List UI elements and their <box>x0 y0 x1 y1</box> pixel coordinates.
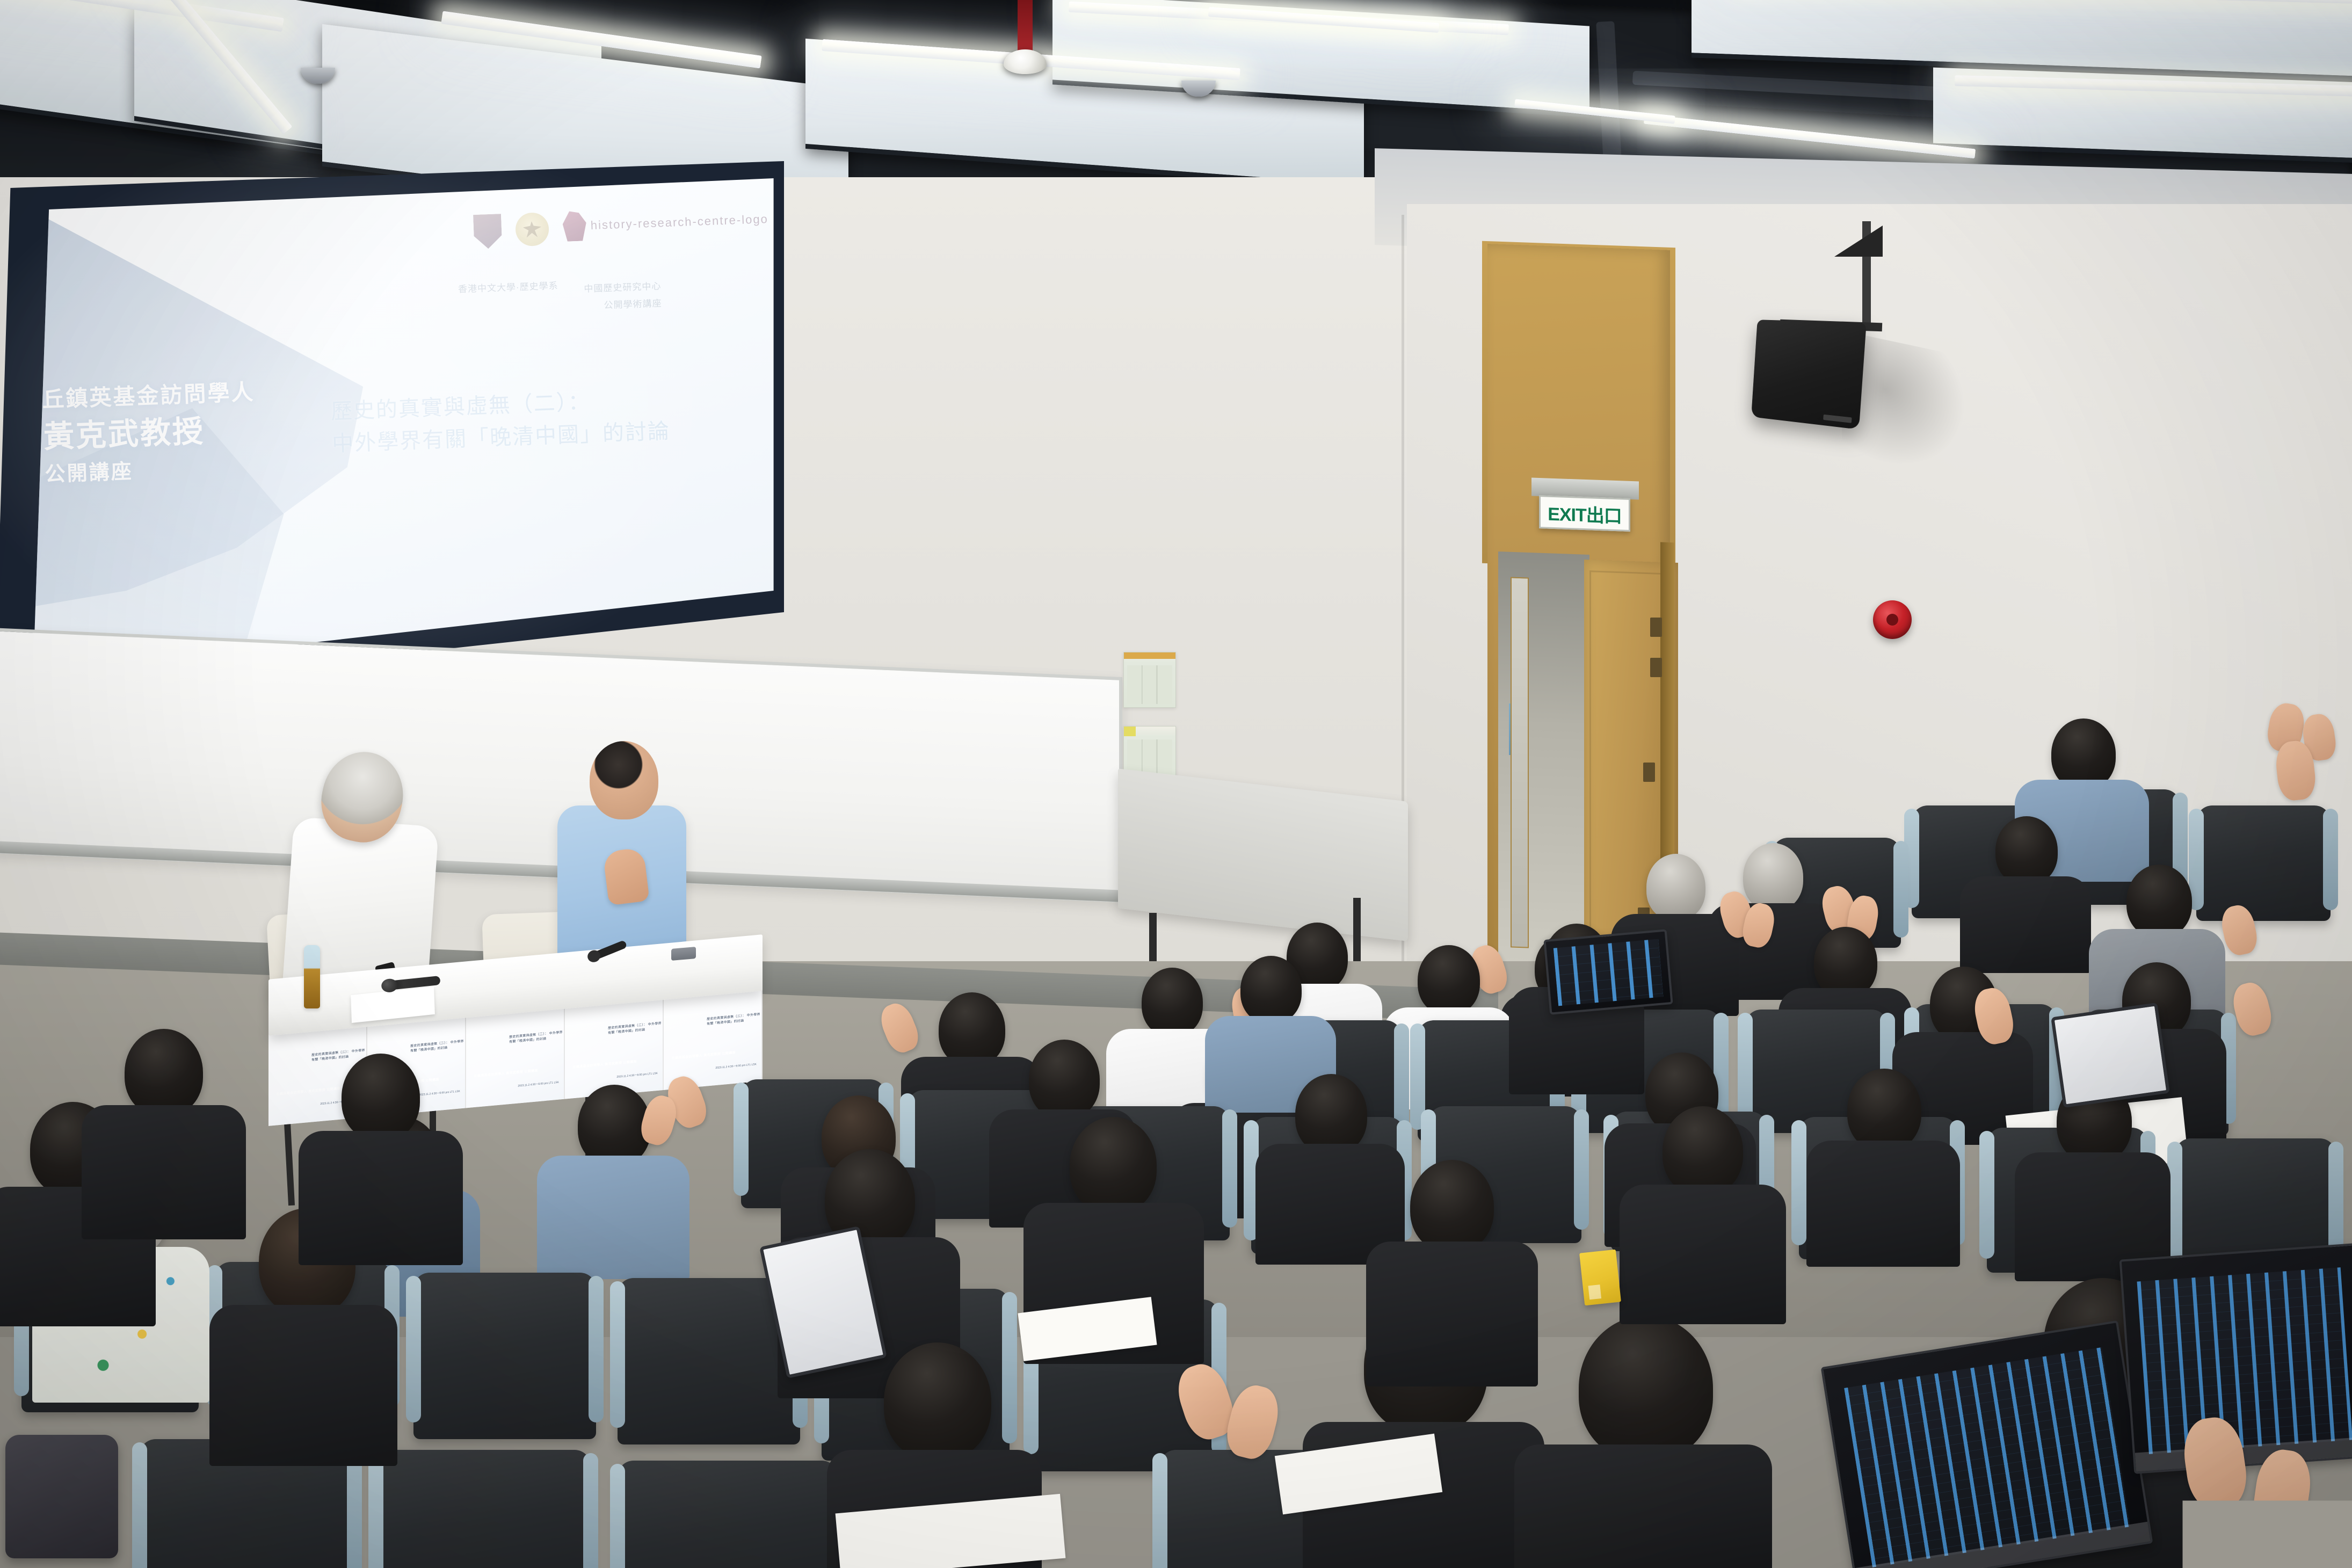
mini-poster-date: 2023.11.2 4:30－6:00 pm LT1 LSK <box>715 1063 757 1070</box>
mini-poster-title: 歷史的真實與虛無（二）： 中外學界有關「晚清中國」的討論 <box>509 1030 564 1045</box>
safety-instruction-notice-top <box>1123 652 1176 708</box>
audience-head <box>1240 956 1302 1023</box>
audience-head <box>1070 1117 1157 1214</box>
laptop-desktop-screen <box>1554 939 1663 1006</box>
laptop-device[interactable] <box>1821 1320 2153 1568</box>
lecture-seat[interactable] <box>2196 805 2331 921</box>
audience-head <box>1847 1069 1921 1151</box>
door-hinge <box>1650 618 1662 637</box>
audience-torso <box>299 1131 463 1265</box>
juice-carton <box>1579 1250 1621 1306</box>
audience-torso <box>209 1305 397 1466</box>
fire-alarm-bell-icon <box>1873 600 1912 639</box>
mini-poster-date: 2023.11.2 4:30－6:00 pm LT1 LSK <box>419 1090 460 1097</box>
audience-head <box>884 1342 991 1461</box>
audience-head <box>1410 1160 1494 1252</box>
exit-sign: EXIT出口 <box>1539 495 1630 532</box>
audience-head <box>342 1054 420 1141</box>
smartphone[interactable] <box>671 947 696 961</box>
lecture-hall-photo: history-research-centre-logo 香港中文大學·歷史學系… <box>0 0 2352 1568</box>
exit-sign-label: EXIT出口 <box>1548 499 1622 528</box>
red-pendant-light <box>1018 0 1033 54</box>
audience-head <box>1295 1074 1367 1155</box>
audience-head <box>1029 1040 1100 1119</box>
laptop-device[interactable] <box>1543 929 1673 1015</box>
lecture-seat[interactable] <box>376 1450 591 1568</box>
slide-logo-row: history-research-centre-logo <box>473 204 769 249</box>
door-hinge <box>1650 658 1662 677</box>
audience-torso <box>1620 1185 1786 1324</box>
audience-head <box>939 992 1005 1066</box>
faculty-circular-emblem-icon <box>515 212 549 246</box>
mini-poster-title: 歷史的真實與虛無（二）： 中外學界有關「晚清中國」的討論 <box>608 1021 663 1036</box>
slide-logo-caption-right: 中國歷史研究中心 公開學術講座 <box>584 278 662 315</box>
backpack <box>5 1435 118 1558</box>
audience-torso <box>82 1105 246 1239</box>
audience-head <box>2051 718 2116 789</box>
history-research-centre-logo: history-research-centre-logo <box>562 204 769 242</box>
centre-mark-icon <box>562 210 587 242</box>
water-bottle <box>304 945 320 1008</box>
door-vision-panel <box>1511 577 1529 948</box>
slide-lecture-title: 歷史的真實與虛無（二）： 中外學界有關「晚清中國」的討論 <box>330 383 671 460</box>
mini-poster-title: 歷史的真實與虛無（二）： 中外學界有關「晚清中國」的討論 <box>707 1012 761 1027</box>
audience-head <box>1646 854 1705 920</box>
ceiling-loudspeaker <box>1751 320 1867 430</box>
host-speaker-head <box>590 741 658 819</box>
slide-speaker-name: 黃克武教授 <box>43 409 257 458</box>
audience-head <box>1663 1106 1743 1195</box>
audience-torso <box>1514 1444 1772 1568</box>
laptop-desktop-screen <box>2137 1267 2352 1454</box>
slide-speaker-block: 丘鎮英基金訪問學人 黃克武教授 公開講座 <box>41 378 258 489</box>
audience-head <box>2126 865 2192 938</box>
mini-poster-title: 歷史的真實與虛無（二）： 中外學界有關「晚清中國」的討論 <box>410 1040 465 1054</box>
mini-poster-date: 2023.11.2 4:30－6:00 pm LT1 LSK <box>616 1071 658 1079</box>
door-hinge <box>1643 763 1655 782</box>
university-shield-crest-icon <box>473 214 502 249</box>
audience-head <box>1743 843 1803 911</box>
audience-torso <box>1366 1242 1538 1386</box>
centre-logo-text: history-research-centre-logo <box>590 212 768 233</box>
mini-poster-date: 2023.11.2 4:30－6:00 pm LT1 LSK <box>518 1080 559 1088</box>
tablet-device[interactable] <box>2051 1003 2170 1108</box>
audience-head <box>1814 927 1877 998</box>
slide-logo-caption-left: 香港中文大學·歷史學系 <box>458 278 558 299</box>
slide-logo-caption-right-line2: 公開學術講座 <box>584 295 662 316</box>
audience-head <box>578 1085 651 1166</box>
slide-logo-caption-right-line1: 中國歷史研究中心 <box>584 278 662 298</box>
audience-torso <box>1806 1141 1960 1267</box>
audience-head <box>1418 945 1480 1015</box>
audience-head <box>1142 968 1203 1036</box>
lecture-seat[interactable] <box>618 1461 838 1568</box>
audience-head <box>125 1029 203 1116</box>
lecture-seat[interactable] <box>413 1273 596 1439</box>
audience-torso <box>1960 876 2091 973</box>
audience-torso <box>537 1156 689 1279</box>
audience-head <box>1995 816 2058 885</box>
audience-head <box>1579 1316 1713 1461</box>
